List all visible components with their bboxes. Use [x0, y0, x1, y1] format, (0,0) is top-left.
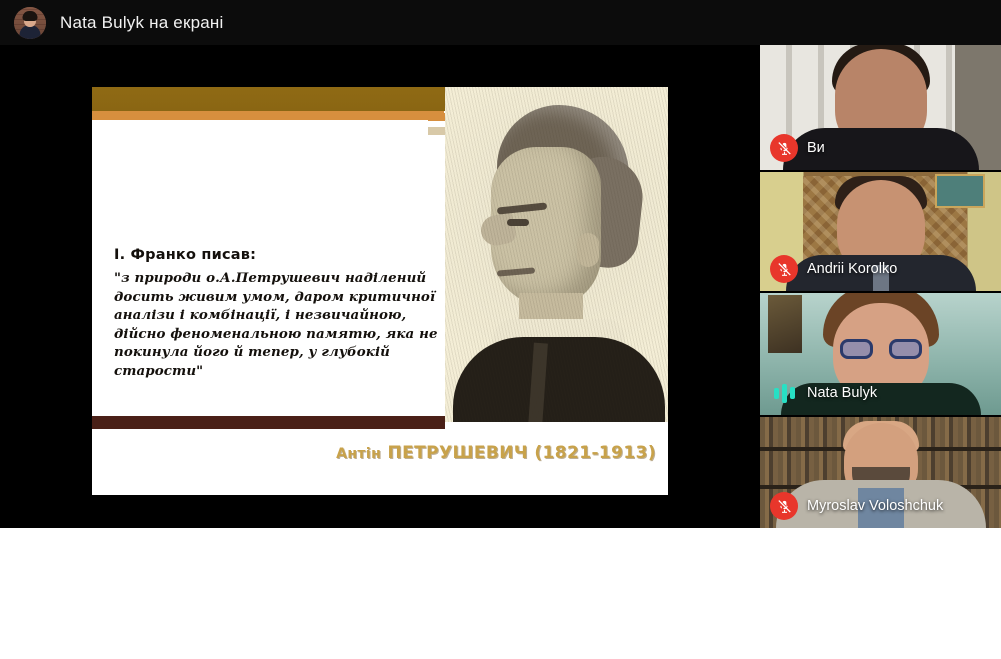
quote-body-text: "з природи о.А.Петрушевич наділений доси…	[114, 269, 444, 380]
slide-quote-block: І. Франко писав: "з природи о.А.Петрушев…	[114, 247, 444, 380]
portrait-coat	[453, 337, 665, 422]
slide-gold-band	[92, 87, 444, 111]
participant-name: Nata Bulyk	[807, 385, 877, 401]
participant-name: Myroslav Voloshchuk	[807, 498, 943, 514]
slide-maroon-rule	[92, 416, 445, 429]
presenter-banner-label: Nata Bulyk на екрані	[60, 13, 223, 33]
participant-label: Myroslav Voloshchuk	[770, 492, 943, 520]
slide-caption-area: Антін ПЕТРУШЕВИЧ (1821-1913)	[92, 429, 668, 495]
caption-first-name: Антін	[336, 446, 381, 462]
avatar	[14, 7, 46, 39]
audio-level-icon[interactable]	[770, 379, 798, 407]
microphone-off-icon[interactable]	[770, 255, 798, 283]
participant-tile-nata-bulyk[interactable]: Nata Bulyk	[760, 291, 1001, 415]
participant-name: Andrii Korolko	[807, 261, 897, 277]
tile-separator	[760, 291, 1001, 293]
screen-share-area[interactable]: І. Франко писав: "з природи о.А.Петрушев…	[0, 45, 760, 528]
page-background-area	[0, 528, 1001, 659]
participant-label: Andrii Korolko	[770, 255, 897, 283]
participant-tile-myroslav-voloshchuk[interactable]: Myroslav Voloshchuk	[760, 415, 1001, 528]
participant-name: Ви	[807, 140, 825, 156]
participant-label: Nata Bulyk	[770, 379, 877, 407]
avatar-hair	[23, 11, 38, 21]
participant-filmstrip[interactable]: Ви	[760, 45, 1001, 528]
caption-surname: ПЕТРУШЕВИЧ (1821-1913)	[388, 443, 656, 463]
presentation-slide: І. Франко писав: "з природи о.А.Петрушев…	[92, 87, 668, 495]
portrait-ear	[577, 233, 599, 267]
portrait-eye	[507, 219, 529, 226]
tile-separator	[760, 170, 1001, 172]
participant-tile-you[interactable]: Ви	[760, 45, 1001, 170]
quote-lead-text: І. Франко писав:	[114, 247, 444, 263]
microphone-off-icon[interactable]	[770, 134, 798, 162]
participant-label: Ви	[770, 134, 825, 162]
presenter-banner: Nata Bulyk на екрані	[0, 0, 760, 45]
slide-orange-band	[92, 111, 444, 120]
portrait-image	[445, 87, 668, 422]
tile-separator	[760, 415, 1001, 417]
meeting-stage: Nata Bulyk на екрані І. Франко писав: "з…	[0, 0, 1001, 528]
participant-tile-andrii-korolko[interactable]: Andrii Korolko	[760, 170, 1001, 291]
video-conference-screen: Nata Bulyk на екрані І. Франко писав: "з…	[0, 0, 1001, 659]
microphone-off-icon[interactable]	[770, 492, 798, 520]
slide-caption: Антін ПЕТРУШЕВИЧ (1821-1913)	[336, 443, 656, 463]
avatar-body	[20, 25, 41, 39]
